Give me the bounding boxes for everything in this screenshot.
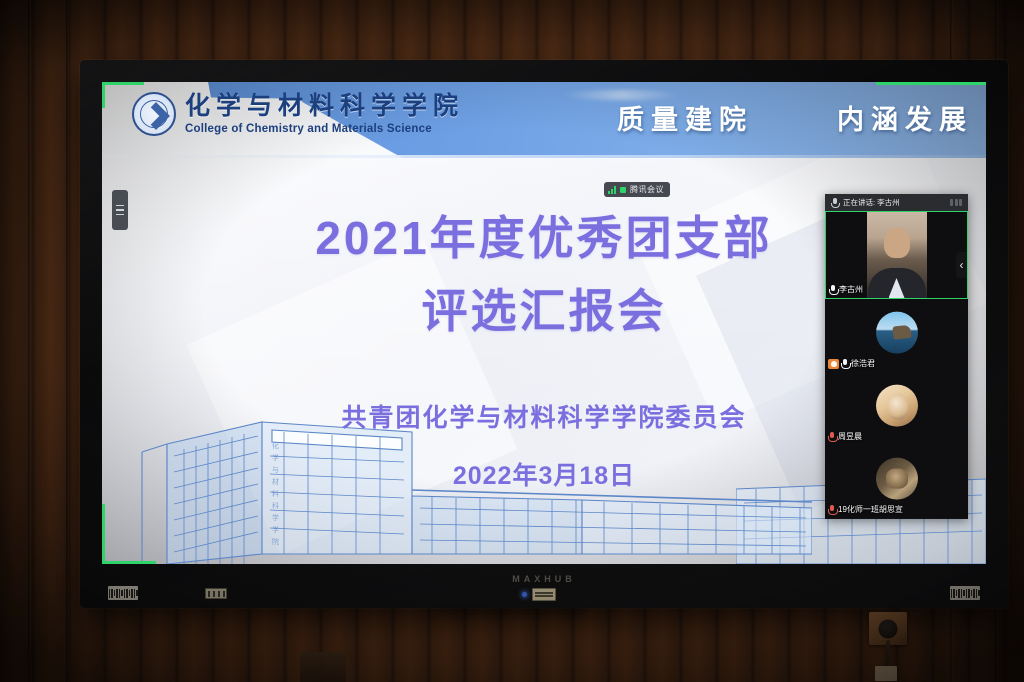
ir-receiver-label — [532, 588, 556, 601]
slogan-left: 质量建院 — [617, 98, 753, 137]
audio-wave-icon — [950, 199, 962, 206]
signal-strip — [102, 504, 105, 564]
participant-name-row: 19化师一班胡思宣 — [828, 504, 903, 515]
signal-bars-icon — [608, 186, 616, 194]
wall-plank-seam — [66, 0, 69, 682]
handle-line — [116, 205, 124, 207]
participant-name: 19化师一班胡思宣 — [838, 504, 903, 515]
chevron-left-icon[interactable]: ‹ — [956, 252, 967, 278]
participant-name: 李古州 — [839, 284, 863, 295]
participant-name-row: 周昱晨 — [828, 431, 862, 442]
participant-name: 周昱晨 — [838, 431, 862, 442]
asset-barcode-sticker — [108, 586, 138, 600]
school-name-en: College of Chemistry and Materials Scien… — [185, 123, 464, 135]
mic-off-icon — [828, 432, 836, 442]
participant-name: 徐浩君 — [851, 358, 875, 369]
participant-name-row: 李古州 — [829, 284, 863, 295]
display-screen[interactable]: 化学与材料科学学院 College of Chemistry and Mater… — [102, 82, 986, 564]
signal-strip — [102, 82, 144, 85]
mic-on-icon — [841, 359, 849, 369]
display-bezel: 化学与材料科学学院 College of Chemistry and Mater… — [80, 60, 1008, 608]
signal-strip — [102, 561, 156, 564]
school-identity: 化学与材料科学学院 College of Chemistry and Mater… — [132, 92, 464, 136]
handle-line — [116, 214, 124, 216]
mic-on-icon — [829, 285, 837, 295]
handle-line — [116, 209, 124, 211]
interactive-display: 化学与材料科学学院 College of Chemistry and Mater… — [80, 60, 1008, 608]
svg-text:学: 学 — [272, 513, 279, 522]
mic-icon — [831, 198, 838, 208]
cable-tag — [875, 666, 897, 681]
participant-avatar — [876, 384, 918, 426]
participant-avatar — [876, 311, 918, 353]
school-names: 化学与材料科学学院 College of Chemistry and Mater… — [185, 93, 464, 135]
floor-object — [300, 652, 346, 682]
port-label-sticker — [205, 588, 227, 599]
participant-name-row: 徐浩君 — [828, 358, 875, 369]
active-speaker-bar: 正在讲话: 李古州 — [825, 194, 968, 211]
signal-strip — [102, 82, 105, 108]
asset-barcode-sticker — [950, 586, 980, 600]
floating-toolbar-handle[interactable] — [112, 190, 128, 230]
participant-tile[interactable]: 李古州 — [825, 211, 968, 299]
tencent-meeting-badge: 腾讯会议 — [604, 182, 670, 197]
meeting-app-label: 腾讯会议 — [630, 184, 664, 195]
participant-video-feed — [867, 212, 927, 298]
mic-off-icon — [828, 505, 836, 515]
meeting-participant-panel[interactable]: 正在讲话: 李古州 李古州 — [825, 194, 968, 519]
school-name-cn: 化学与材料科学学院 — [185, 93, 464, 121]
record-dot-icon — [620, 187, 626, 193]
participant-tile[interactable]: 19化师一班胡思宣 — [825, 445, 968, 518]
svg-text:院: 院 — [272, 537, 279, 546]
host-badge-icon — [828, 359, 839, 369]
wall-plank-seam — [28, 0, 31, 682]
conference-room: 化学与材料科学学院 College of Chemistry and Mater… — [0, 0, 1024, 682]
shirt-collar — [889, 278, 905, 298]
power-led — [522, 592, 527, 597]
participant-tile[interactable]: 徐浩君 — [825, 299, 968, 372]
active-speaker-label: 正在讲话: 李古州 — [843, 197, 900, 208]
signal-strip — [876, 82, 986, 85]
svg-text:学: 学 — [272, 525, 279, 534]
university-emblem-icon — [132, 92, 176, 136]
display-brand-label: MAXHUB — [80, 574, 1008, 584]
slogan-right: 内涵发展 — [837, 98, 973, 137]
svg-text:科: 科 — [272, 501, 279, 510]
participant-tile[interactable]: 周昱晨 — [825, 372, 968, 445]
banner-underline — [102, 155, 986, 158]
participant-avatar — [876, 457, 918, 499]
